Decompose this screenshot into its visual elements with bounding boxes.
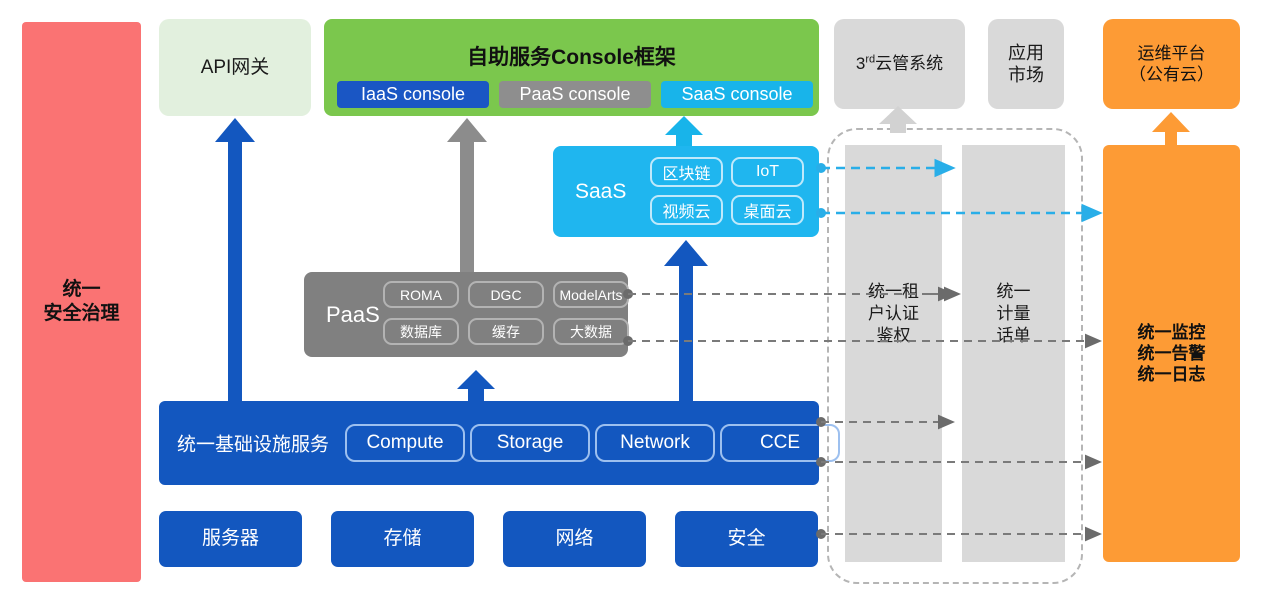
paas-label: PaaS bbox=[326, 302, 380, 328]
resource-box-security[interactable]: 安全 bbox=[675, 511, 818, 567]
paas-item-dgc[interactable]: DGC bbox=[468, 281, 544, 308]
paas-item-cache[interactable]: 缓存 bbox=[468, 318, 544, 345]
saas-item-blockchain[interactable]: 区块链 bbox=[650, 157, 723, 187]
paas-item-roma[interactable]: ROMA bbox=[383, 281, 459, 308]
paas-console-label: PaaS console bbox=[519, 84, 630, 105]
api-gateway-label: API网关 bbox=[201, 56, 270, 80]
self-service-console-frame[interactable]: 自助服务Console框架 IaaS console PaaS console … bbox=[324, 19, 819, 116]
ops-platform-box[interactable]: 运维平台 （公有云） bbox=[1103, 19, 1240, 109]
resource-box-network[interactable]: 网络 bbox=[503, 511, 646, 567]
infra-item-cce[interactable]: CCE bbox=[720, 424, 840, 462]
infra-item-network[interactable]: Network bbox=[595, 424, 715, 462]
saas-block[interactable]: SaaS 区块链 IoT 视频云 桌面云 bbox=[553, 146, 819, 237]
security-panel-line1: 统一 bbox=[43, 278, 119, 302]
resource-box-server[interactable]: 服务器 bbox=[159, 511, 302, 567]
unified-tenant-auth-label: 统一租 户认证 鉴权 bbox=[845, 281, 942, 347]
third-party-label: 3rd云管系统 bbox=[856, 53, 943, 74]
monitoring-line3: 统一日志 bbox=[1138, 364, 1206, 385]
api-gateway-box[interactable]: API网关 bbox=[159, 19, 311, 116]
saas-item-video-cloud[interactable]: 视频云 bbox=[650, 195, 723, 225]
app-market-line1: 应用 bbox=[1008, 42, 1044, 65]
arrow-saas-to-saas-console bbox=[665, 116, 703, 146]
unified-security-governance-panel[interactable]: 统一 安全治理 bbox=[22, 22, 141, 582]
unified-metering-billing-label: 统一 计量 话单 bbox=[962, 281, 1065, 347]
app-market-line2: 市场 bbox=[1008, 64, 1044, 87]
unified-tenant-auth-column[interactable] bbox=[845, 145, 942, 562]
arrow-infra-to-saas bbox=[664, 240, 708, 401]
security-panel-line2: 安全治理 bbox=[43, 302, 119, 326]
arrow-infra-to-api-gateway bbox=[215, 118, 255, 401]
arrow-infra-to-paas bbox=[457, 370, 495, 401]
saas-label: SaaS bbox=[575, 180, 626, 204]
paas-item-database[interactable]: 数据库 bbox=[383, 318, 459, 345]
paas-block[interactable]: PaaS ROMA DGC ModelArts 数据库 缓存 大数据 bbox=[304, 272, 628, 357]
unified-monitoring-box[interactable]: 统一监控 统一告警 统一日志 bbox=[1103, 145, 1240, 562]
ops-platform-line1: 运维平台 bbox=[1129, 43, 1214, 64]
paas-item-bigdata[interactable]: 大数据 bbox=[553, 318, 629, 345]
saas-console-chip[interactable]: SaaS console bbox=[661, 81, 813, 108]
ops-platform-line2: （公有云） bbox=[1129, 64, 1214, 85]
unified-metering-billing-column[interactable] bbox=[962, 145, 1065, 562]
infrastructure-label: 统一基础设施服务 bbox=[177, 430, 329, 457]
saas-item-desktop-cloud[interactable]: 桌面云 bbox=[731, 195, 804, 225]
iaas-console-label: IaaS console bbox=[361, 84, 465, 105]
console-frame-title: 自助服务Console框架 bbox=[324, 41, 819, 71]
arrow-monitoring-to-ops-platform bbox=[1152, 112, 1191, 145]
paas-console-chip[interactable]: PaaS console bbox=[499, 81, 651, 108]
unified-infrastructure-bar[interactable]: 统一基础设施服务 Compute Storage Network CCE bbox=[159, 401, 819, 485]
monitoring-line2: 统一告警 bbox=[1138, 343, 1206, 364]
saas-console-label: SaaS console bbox=[681, 84, 792, 105]
paas-item-modelarts[interactable]: ModelArts bbox=[553, 281, 629, 308]
monitoring-line1: 统一监控 bbox=[1138, 322, 1206, 343]
infra-item-compute[interactable]: Compute bbox=[345, 424, 465, 462]
third-party-cloud-management-box[interactable]: 3rd云管系统 bbox=[834, 19, 965, 109]
resource-box-storage[interactable]: 存储 bbox=[331, 511, 474, 567]
arrow-paas-to-console bbox=[447, 118, 487, 272]
architecture-diagram: 统一 安全治理 API网关 自助服务Console框架 IaaS console… bbox=[0, 0, 1265, 605]
iaas-console-chip[interactable]: IaaS console bbox=[337, 81, 489, 108]
infra-item-storage[interactable]: Storage bbox=[470, 424, 590, 462]
app-market-box[interactable]: 应用 市场 bbox=[988, 19, 1064, 109]
saas-item-iot[interactable]: IoT bbox=[731, 157, 804, 187]
